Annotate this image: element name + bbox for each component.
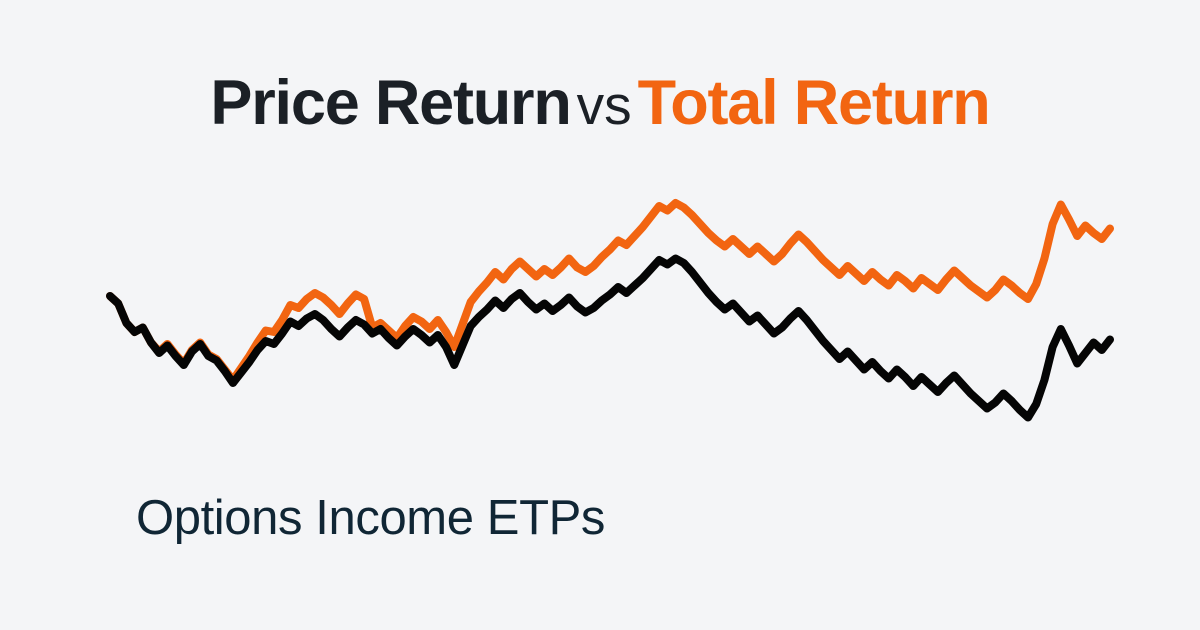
title-connector-vs: vs	[571, 74, 638, 136]
title-price-return: Price Return	[210, 68, 570, 138]
line-chart	[110, 185, 1110, 485]
chart-canvas	[110, 185, 1110, 485]
title-total-return: Total Return	[638, 68, 990, 138]
social-share-card: Price ReturnvsTotal Return Options Incom…	[0, 0, 1200, 630]
subtitle-label: Options Income ETPs	[136, 492, 605, 546]
chart-series-group	[110, 203, 1110, 418]
page-title: Price ReturnvsTotal Return	[0, 72, 1200, 135]
